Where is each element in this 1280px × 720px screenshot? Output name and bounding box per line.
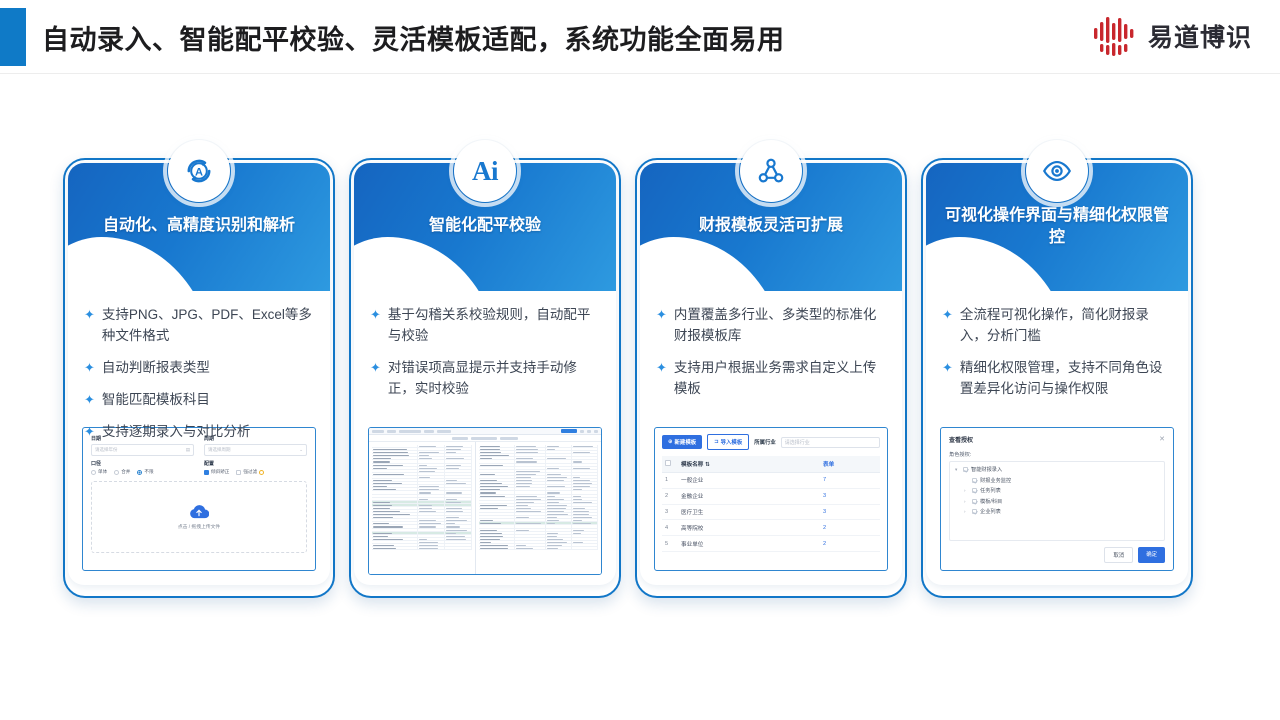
- sheet-cell: [515, 544, 546, 546]
- new-template-button[interactable]: ⊕ 新建模板: [662, 435, 702, 449]
- row-index: 2: [662, 488, 678, 504]
- sheet-cell: [445, 547, 472, 549]
- sheet-cell: [479, 501, 515, 503]
- list-item: ✦ 自动判断报表类型: [84, 358, 314, 379]
- import-icon: ⊐: [714, 439, 719, 445]
- sheet-cell: [372, 501, 418, 503]
- checkbox-icon[interactable]: [963, 467, 968, 472]
- sheet-cell: [515, 547, 546, 549]
- sheet-cell: [546, 532, 572, 534]
- bullet-text: 精细化权限管理，支持不同角色设置差异化访问与操作权限: [960, 358, 1172, 400]
- sheet-row: [479, 547, 598, 550]
- sheet-cell: [572, 451, 598, 453]
- sheet-cell: [515, 513, 546, 515]
- sheet-cell: [572, 498, 598, 500]
- sheet-cell: [546, 501, 572, 503]
- card-bullet-list: ✦ 全流程可视化操作，简化财报录入，分析门槛 ✦ 精细化权限管理，支持不同角色设…: [942, 305, 1172, 400]
- bullet-text: 全流程可视化操作，简化财报录入，分析门槛: [960, 305, 1172, 347]
- close-icon[interactable]: ✕: [1159, 436, 1165, 443]
- sheet-cell: [372, 470, 418, 472]
- sheet-cell: [445, 445, 472, 447]
- auto-refresh-a-icon: A: [182, 154, 216, 188]
- sheet-cell: [445, 519, 472, 521]
- sheet-cell: [479, 522, 515, 524]
- caret-icon[interactable]: ▾: [955, 467, 960, 473]
- row-form-count[interactable]: 3: [820, 488, 880, 504]
- sheet-cell: [515, 516, 546, 518]
- sheet-cell: [418, 482, 445, 484]
- sheet-cell: [572, 473, 598, 475]
- sheet-cell: [445, 522, 472, 524]
- radio-scope-single[interactable]: 单体: [91, 469, 107, 475]
- caret-icon[interactable]: ›: [964, 499, 969, 504]
- sheet-cell: [515, 464, 546, 466]
- sheet-cell: [572, 454, 598, 456]
- sheet-cell: [546, 507, 572, 509]
- sheet-cell: [372, 504, 418, 506]
- sheet-cell: [372, 529, 418, 531]
- card-bullet-list: ✦ 内置覆盖多行业、多类型的标准化财报模板库 ✦ 支持用户根据业务需求自定义上传…: [656, 305, 886, 400]
- sheet-cell: [445, 535, 472, 537]
- row-template-name: 事业单位: [678, 536, 820, 552]
- sheet-cell: [479, 510, 515, 512]
- sheet-cell: [418, 473, 445, 475]
- bullet-diamond-icon: ✦: [84, 305, 95, 325]
- sheet-cell: [418, 529, 445, 531]
- sheet-cell: [572, 547, 598, 549]
- card-bullet-list: ✦ 支持PNG、JPG、PDF、Excel等多种文件格式 ✦ 自动判断报表类型 …: [84, 305, 314, 443]
- sheet-cell: [479, 535, 515, 537]
- sheet-cell: [479, 516, 515, 518]
- sheet-cell: [515, 532, 546, 534]
- radio-icon: [114, 470, 119, 475]
- sheet-cell: [445, 473, 472, 475]
- doc-save-button[interactable]: [561, 429, 577, 433]
- permission-tree[interactable]: ▾智能财报录入财报业务监控›任务列表›模板/科目›企业列表: [949, 461, 1165, 541]
- sheet-cell: [479, 532, 515, 534]
- sheet-cell: [372, 538, 418, 540]
- row-index: 1: [662, 473, 678, 489]
- sheet-cell: [572, 535, 598, 537]
- sheet-cell: [572, 457, 598, 459]
- sheet-cell: [515, 488, 546, 490]
- sheet-cell: [515, 541, 546, 543]
- sheet-cell: [515, 495, 546, 497]
- table-row[interactable]: 1一般企业7: [662, 473, 880, 489]
- sheet-cell: [372, 525, 418, 527]
- sheet-row: [372, 547, 472, 550]
- sheet-cell: [546, 464, 572, 466]
- checkbox-skew-correction[interactable]: 倾斜矫正: [204, 469, 229, 475]
- caret-icon[interactable]: ›: [964, 488, 969, 493]
- checkbox-icon-checked: [204, 470, 209, 475]
- permission-node-label: 财报业务监控: [980, 477, 1011, 484]
- checkbox-icon[interactable]: [972, 499, 977, 504]
- sheet-cell: [546, 457, 572, 459]
- sheet-cell: [572, 495, 598, 497]
- sheet-cell: [418, 445, 445, 447]
- sheet-cell: [445, 470, 472, 472]
- sheet-cell: [515, 504, 546, 506]
- sheet-cell: [418, 501, 445, 503]
- sheet-cell: [372, 547, 418, 549]
- sheet-cell: [372, 513, 418, 515]
- calendar-icon: ▤: [186, 447, 190, 453]
- sheet-cell: [372, 498, 418, 500]
- feature-card-4: 可视化操作界面与精细化权限管控 ✦ 全流程可视化操作，简化财报录入，分析门槛 ✦…: [918, 140, 1196, 610]
- feature-card-2: 智能化配平校验 ✦ 基于勾稽关系校验规则，自动配平与校验 ✦ 对错误项高显提示并…: [346, 140, 624, 610]
- sheet-cell: [418, 535, 445, 537]
- sheet-cell: [418, 457, 445, 459]
- sheet-cell: [479, 451, 515, 453]
- card-inner: 财报模板灵活可扩展 ✦ 内置覆盖多行业、多类型的标准化财报模板库 ✦ 支持用户根…: [640, 163, 902, 585]
- sheet-cell: [372, 485, 418, 487]
- sheet-cell: [572, 522, 598, 524]
- card-icon-badge: [1026, 140, 1088, 202]
- sheet-cell: [445, 460, 472, 462]
- sheet-cell: [515, 510, 546, 512]
- doc-pane-structured[interactable]: [475, 442, 601, 574]
- table-row[interactable]: 5事业单位2: [662, 536, 880, 552]
- sheet-cell: [515, 445, 546, 447]
- sheet-cell: [546, 510, 572, 512]
- sheet-cell: [515, 538, 546, 540]
- sheet-cell: [572, 470, 598, 472]
- chevron-down-icon: ⌄: [299, 447, 303, 453]
- sheet-cell: [445, 454, 472, 456]
- permission-tree-node[interactable]: ›企业列表: [955, 508, 1159, 515]
- field-label-config: 配置: [204, 460, 307, 467]
- sheet-cell: [372, 510, 418, 512]
- sheet-cell: [445, 479, 472, 481]
- bullet-diamond-icon: ✦: [84, 358, 95, 378]
- sheet-cell: [418, 507, 445, 509]
- sheet-cell: [418, 467, 445, 469]
- row-form-count[interactable]: 2: [820, 520, 880, 536]
- sheet-cell: [515, 470, 546, 472]
- permission-node-label: 任务列表: [980, 487, 1001, 494]
- column-header-name[interactable]: 模板名称 ⇅: [678, 456, 820, 473]
- checkbox-icon[interactable]: [972, 478, 977, 483]
- checkbox-icon[interactable]: [972, 488, 977, 493]
- sheet-cell: [445, 448, 472, 450]
- feature-card-1: 自动化、高精度识别和解析 ✦ 支持PNG、JPG、PDF、Excel等多种文件格…: [60, 140, 338, 610]
- card-inner: 自动化、高精度识别和解析 ✦ 支持PNG、JPG、PDF、Excel等多种文件格…: [68, 163, 330, 585]
- sheet-cell: [515, 529, 546, 531]
- sheet-cell: [546, 476, 572, 478]
- card-title: 可视化操作界面与精细化权限管控: [940, 205, 1174, 248]
- screenshot-upload-form: 日期 请选择年份 ▤ 周期 请选择周期 ⌄: [82, 427, 316, 571]
- sheet-cell: [418, 491, 445, 493]
- sheet-cell: [418, 488, 445, 490]
- sheet-cell: [445, 544, 472, 546]
- sheet-cell: [445, 485, 472, 487]
- sheet-cell: [572, 532, 598, 534]
- radio-icon: [91, 470, 96, 475]
- sheet-cell: [372, 535, 418, 537]
- sheet-cell: [479, 519, 515, 521]
- permission-tree-node[interactable]: 财报业务监控: [955, 477, 1159, 484]
- sheet-cell: [372, 491, 418, 493]
- sheet-cell: [418, 464, 445, 466]
- sheet-cell: [418, 547, 445, 549]
- sheet-cell: [372, 451, 418, 453]
- sheet-cell: [572, 476, 598, 478]
- bullet-text: 支持PNG、JPG、PDF、Excel等多种文件格式: [102, 305, 314, 347]
- sheet-cell: [372, 482, 418, 484]
- sheet-cell: [479, 464, 515, 466]
- card-inner: 智能化配平校验 ✦ 基于勾稽关系校验规则，自动配平与校验 ✦ 对错误项高显提示并…: [354, 163, 616, 585]
- sheet-cell: [372, 464, 418, 466]
- page-title: 自动录入、智能配平校验、灵活模板适配，系统功能全面易用: [42, 18, 785, 57]
- bullet-diamond-icon: ✦: [84, 390, 95, 410]
- brand-lockup: 易道博识: [1092, 14, 1252, 58]
- bullet-diamond-icon: ✦: [942, 305, 953, 325]
- sheet-cell: [372, 460, 418, 462]
- bullet-diamond-icon: ✦: [942, 358, 953, 378]
- sheet-cell: [372, 457, 418, 459]
- sheet-cell: [479, 488, 515, 490]
- bullet-text: 支持逐期录入与对比分析: [102, 422, 251, 443]
- sheet-cell: [418, 495, 445, 497]
- card-title: 自动化、高精度识别和解析: [82, 215, 316, 237]
- radio-icon-selected: [137, 470, 142, 475]
- bullet-diamond-icon: ✦: [656, 305, 667, 325]
- sheet-cell: [418, 513, 445, 515]
- sheet-cell: [515, 485, 546, 487]
- page-header: 自动录入、智能配平校验、灵活模板适配，系统功能全面易用: [0, 0, 1280, 74]
- sheet-cell: [515, 454, 546, 456]
- sheet-cell: [445, 482, 472, 484]
- row-form-count[interactable]: 7: [820, 473, 880, 489]
- sheet-cell: [572, 541, 598, 543]
- sheet-cell: [546, 460, 572, 462]
- confirm-button[interactable]: 确定: [1138, 547, 1165, 563]
- table-row[interactable]: 3医疗卫生3: [662, 504, 880, 520]
- feature-card-3: 财报模板灵活可扩展 ✦ 内置覆盖多行业、多类型的标准化财报模板库 ✦ 支持用户根…: [632, 140, 910, 610]
- sheet-cell: [372, 473, 418, 475]
- role-auth-label: 角色授权:: [949, 451, 1165, 458]
- date-input-placeholder: 请选择年份: [95, 447, 118, 453]
- sheet-cell: [479, 538, 515, 540]
- row-template-name: 高等院校: [678, 520, 820, 536]
- row-form-count[interactable]: 2: [820, 536, 880, 552]
- sheet-cell: [418, 454, 445, 456]
- file-dropzone[interactable]: 点击 / 拖拽上传文件: [91, 481, 307, 553]
- sheet-cell: [515, 457, 546, 459]
- eye-icon: [1040, 154, 1074, 188]
- sheet-cell: [445, 467, 472, 469]
- sheet-cell: [572, 510, 598, 512]
- sheet-cell: [572, 538, 598, 540]
- sheet-cell: [479, 457, 515, 459]
- industry-filter-select[interactable]: 请选择行业: [781, 437, 880, 448]
- industry-filter-placeholder: 请选择行业: [785, 439, 810, 446]
- sheet-cell: [445, 525, 472, 527]
- sheet-cell: [479, 544, 515, 546]
- sheet-cell: [572, 482, 598, 484]
- list-item: ✦ 精细化权限管理，支持不同角色设置差异化访问与操作权限: [942, 358, 1172, 400]
- sheet-cell: [445, 491, 472, 493]
- sheet-cell: [572, 519, 598, 521]
- svg-text:A: A: [195, 166, 203, 178]
- sheet-cell: [572, 504, 598, 506]
- sheet-cell: [515, 467, 546, 469]
- checkbox-strong-filter[interactable]: 强过滤: [236, 469, 264, 475]
- doc-pane-original[interactable]: [369, 442, 475, 574]
- sheet-cell: [418, 448, 445, 450]
- sheet-cell: [515, 498, 546, 500]
- sheet-cell: [445, 504, 472, 506]
- row-index: 4: [662, 520, 678, 536]
- cancel-button[interactable]: 取消: [1104, 547, 1133, 563]
- import-template-button[interactable]: ⊐ 导入模板: [707, 434, 749, 450]
- sheet-cell: [372, 476, 418, 478]
- sheet-cell: [572, 516, 598, 518]
- sheet-cell: [418, 498, 445, 500]
- sheet-cell: [572, 491, 598, 493]
- card-icon-badge: [740, 140, 802, 202]
- list-item: ✦ 内置覆盖多行业、多类型的标准化财报模板库: [656, 305, 886, 347]
- sheet-cell: [546, 482, 572, 484]
- period-select-placeholder: 请选择周期: [208, 447, 231, 453]
- sheet-cell: [445, 476, 472, 478]
- period-select[interactable]: 请选择周期 ⌄: [204, 444, 307, 456]
- sheet-cell: [572, 467, 598, 469]
- cloud-upload-icon: [189, 504, 209, 519]
- permission-tree-node[interactable]: ›任务列表: [955, 487, 1159, 494]
- radio-scope-any[interactable]: 不限: [137, 469, 153, 475]
- permission-node-label: 智能财报录入: [971, 466, 1002, 473]
- row-template-name: 医疗卫生: [678, 504, 820, 520]
- radio-label: 单体: [98, 469, 107, 475]
- sheet-cell: [445, 498, 472, 500]
- sheet-cell: [479, 476, 515, 478]
- sheet-cell: [546, 485, 572, 487]
- sheet-cell: [546, 547, 572, 549]
- table-row[interactable]: 4高等院校2: [662, 520, 880, 536]
- sheet-cell: [479, 525, 515, 527]
- sheet-cell: [445, 464, 472, 466]
- sheet-cell: [372, 467, 418, 469]
- sheet-cell: [372, 479, 418, 481]
- sheet-cell: [515, 501, 546, 503]
- sheet-cell: [546, 491, 572, 493]
- sheet-cell: [546, 535, 572, 537]
- sheet-cell: [546, 479, 572, 481]
- sheet-cell: [372, 544, 418, 546]
- sheet-cell: [418, 538, 445, 540]
- table-row[interactable]: 2金融企业3: [662, 488, 880, 504]
- sheet-cell: [445, 495, 472, 497]
- sheet-cell: [418, 522, 445, 524]
- share-nodes-icon: [754, 154, 788, 188]
- sheet-cell: [479, 467, 515, 469]
- template-table: 模板名称 ⇅ 表单 1一般企业72金融企业33医疗卫生34高等院校25事业单位2: [662, 456, 880, 552]
- sheet-cell: [445, 529, 472, 531]
- row-form-count[interactable]: 3: [820, 504, 880, 520]
- radio-label: 不限: [144, 469, 153, 475]
- sheet-cell: [572, 507, 598, 509]
- column-header-count: 表单: [820, 456, 880, 473]
- sheet-cell: [546, 541, 572, 543]
- sheet-cell: [418, 516, 445, 518]
- sheet-cell: [418, 519, 445, 521]
- plus-circle-icon: ⊕: [668, 439, 673, 445]
- sheet-cell: [546, 470, 572, 472]
- row-template-name: 一般企业: [678, 473, 820, 489]
- doc-toolbar: [369, 428, 601, 435]
- sheet-cell: [479, 547, 515, 549]
- sheet-cell: [445, 516, 472, 518]
- sheet-cell: [546, 467, 572, 469]
- select-all-header[interactable]: [662, 456, 678, 473]
- sheet-cell: [479, 485, 515, 487]
- table-header-row: 模板名称 ⇅ 表单: [662, 456, 880, 473]
- bullet-text: 内置覆盖多行业、多类型的标准化财报模板库: [674, 305, 886, 347]
- sheet-cell: [515, 507, 546, 509]
- card-icon-badge: Ai: [454, 140, 516, 202]
- sheet-cell: [372, 495, 418, 497]
- bullet-diamond-icon: ✦: [656, 358, 667, 378]
- checkbox-icon[interactable]: [972, 509, 977, 514]
- sheet-cell: [372, 541, 418, 543]
- sheet-cell: [445, 532, 472, 534]
- sheet-cell: [418, 544, 445, 546]
- sheet-cell: [445, 507, 472, 509]
- sheet-cell: [515, 482, 546, 484]
- sheet-cell: [418, 541, 445, 543]
- sort-icon[interactable]: ⇅: [705, 462, 710, 468]
- sheet-cell: [372, 445, 418, 447]
- sheet-cell: [372, 519, 418, 521]
- sheet-cell: [372, 522, 418, 524]
- checkbox-icon[interactable]: [665, 460, 671, 466]
- sheet-cell: [418, 504, 445, 506]
- list-item: ✦ 智能匹配模板科目: [84, 390, 314, 411]
- sheet-cell: [546, 445, 572, 447]
- sheet-cell: [572, 479, 598, 481]
- sheet-cell: [546, 451, 572, 453]
- sheet-cell: [372, 507, 418, 509]
- sheet-cell: [572, 448, 598, 450]
- sheet-cell: [445, 510, 472, 512]
- screenshot-document-compare: [368, 427, 602, 575]
- caret-icon[interactable]: ›: [964, 509, 969, 514]
- sheet-cell: [372, 516, 418, 518]
- permission-tree-node[interactable]: ▾智能财报录入: [955, 466, 1159, 473]
- sheet-cell: [546, 525, 572, 527]
- field-label-scope: 口径: [91, 460, 194, 467]
- bullet-text: 对错误项高显提示并支持手动修正，实时校验: [388, 358, 600, 400]
- sheet-cell: [418, 476, 445, 478]
- sheet-cell: [418, 460, 445, 462]
- list-item: ✦ 对错误项高显提示并支持手动修正，实时校验: [370, 358, 600, 400]
- radio-scope-merged[interactable]: 合并: [114, 469, 130, 475]
- sheet-cell: [479, 445, 515, 447]
- list-item: ✦ 支持逐期录入与对比分析: [84, 422, 314, 443]
- sheet-cell: [479, 529, 515, 531]
- sheet-cell: [418, 510, 445, 512]
- doc-subtoolbar: [369, 435, 601, 442]
- sheet-cell: [572, 544, 598, 546]
- permission-tree-node[interactable]: ›模板/科目: [955, 498, 1159, 505]
- date-input[interactable]: 请选择年份 ▤: [91, 444, 194, 456]
- sheet-cell: [479, 513, 515, 515]
- sheet-cell: [479, 498, 515, 500]
- sheet-cell: [479, 470, 515, 472]
- sheet-cell: [445, 501, 472, 503]
